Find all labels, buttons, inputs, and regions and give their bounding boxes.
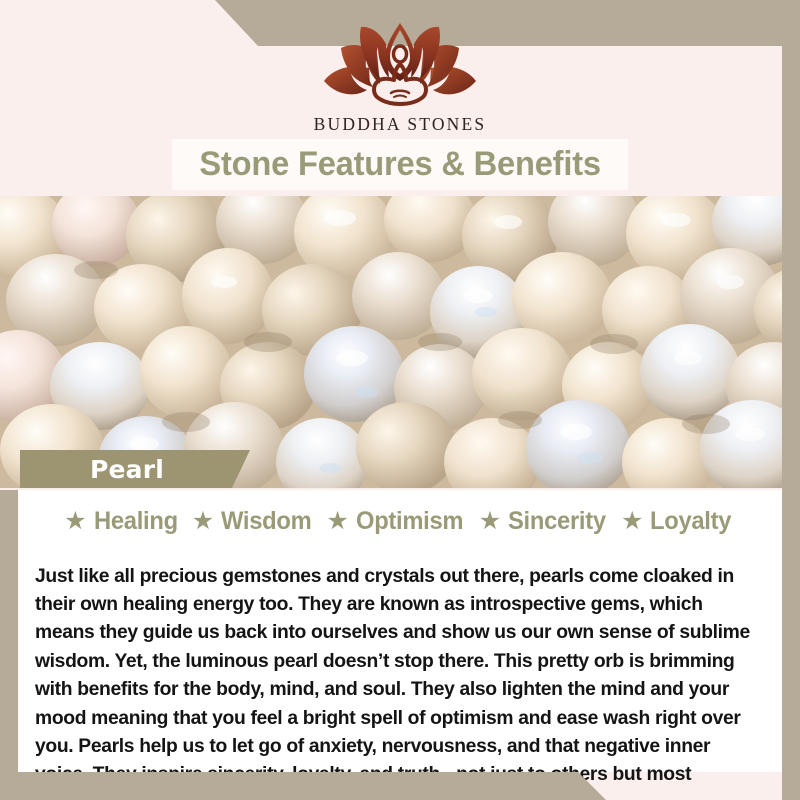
benefit-item-optimism: ★ Optimism xyxy=(321,507,473,536)
benefit-label: Healing xyxy=(94,507,178,536)
title-banner: Stone Features & Benefits xyxy=(172,139,628,190)
infographic-page: BUDDHA STONES Stone Features & Benefits xyxy=(0,0,800,800)
benefit-item-loyalty: ★ Loyalty xyxy=(616,507,741,536)
benefit-label: Optimism xyxy=(356,507,463,536)
star-icon: ★ xyxy=(326,509,348,534)
benefit-item-healing: ★ Healing xyxy=(59,507,187,536)
star-icon: ★ xyxy=(192,509,214,534)
star-icon: ★ xyxy=(64,509,86,534)
left-edge-rail xyxy=(0,490,18,800)
benefit-item-sincerity: ★ Sincerity xyxy=(474,507,616,536)
stone-description: Just like all precious gemstones and cry… xyxy=(35,562,760,800)
pearls-photo xyxy=(0,196,800,488)
benefit-label: Wisdom xyxy=(221,507,311,536)
stone-name: Pearl xyxy=(90,455,164,484)
stone-name-banner: Pearl xyxy=(20,450,250,488)
lotus-meditation-figure-icon xyxy=(321,22,479,108)
benefit-label: Sincerity xyxy=(508,507,606,536)
star-icon: ★ xyxy=(479,509,501,534)
benefit-item-wisdom: ★ Wisdom xyxy=(187,507,322,536)
benefit-label: Loyalty xyxy=(650,507,731,536)
content-card: ★ Healing ★ Wisdom ★ Optimism ★ Sincerit… xyxy=(18,490,782,772)
brand-logo-block: BUDDHA STONES xyxy=(0,22,800,142)
right-edge-rail xyxy=(782,0,800,800)
benefits-row: ★ Healing ★ Wisdom ★ Optimism ★ Sincerit… xyxy=(18,507,782,536)
star-icon: ★ xyxy=(621,509,643,534)
page-title: Stone Features & Benefits xyxy=(199,145,600,184)
brand-name: BUDDHA STONES xyxy=(314,114,487,135)
